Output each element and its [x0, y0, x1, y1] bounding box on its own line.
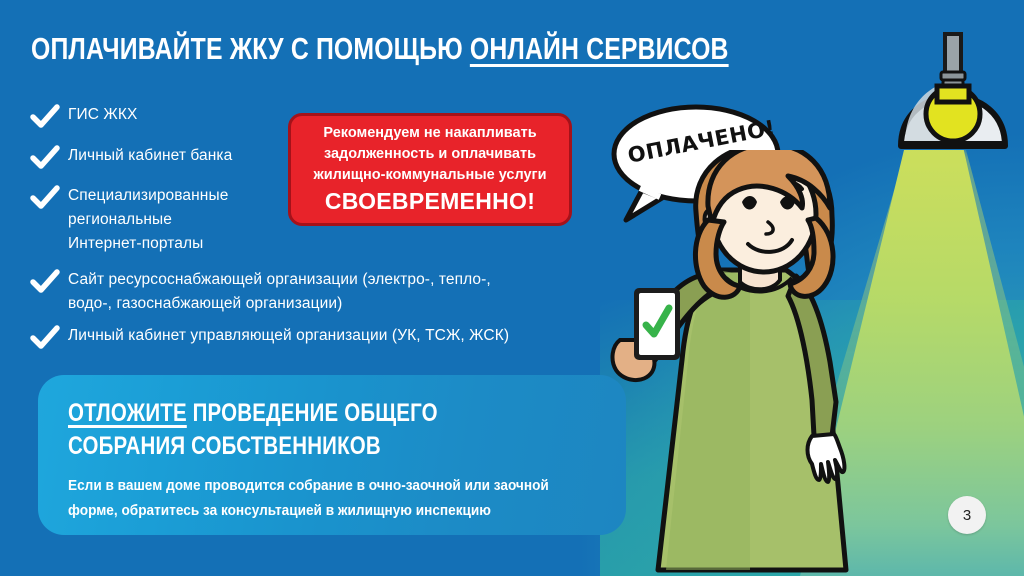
notice-panel-title-underlined: ОТЛОЖИТЕ: [68, 399, 187, 427]
list-item-line3: Интернет-порталы: [68, 235, 203, 252]
list-item: Личный кабинет управляющей организации (…: [30, 324, 590, 351]
check-icon: [30, 104, 60, 130]
notice-panel-title-rest: ПРОВЕДЕНИЕ ОБЩЕГО: [187, 399, 438, 427]
list-item: Сайт ресурсоснабжающей организации (элек…: [30, 268, 590, 316]
recommendation-emphasis: СВОЕВРЕМЕННО!: [325, 187, 535, 215]
woman-illustration: [600, 150, 920, 576]
notice-panel-title-line2: СОБРАНИЯ СОБСТВЕННИКОВ: [68, 430, 504, 463]
recommendation-box: Рекомендуем не накапливать задолженность…: [288, 113, 572, 226]
list-item-line2: водо-, газоснабжающей организации): [68, 295, 342, 312]
recommendation-line-3: жилищно-коммунальные услуги: [313, 165, 546, 186]
notice-panel-subtext-line1: Если в вашем доме проводится собрание в …: [68, 475, 568, 498]
slide-root: ОПЛАЧИВАЙТЕ ЖКУ С ПОМОЩЬЮ ОНЛАЙН СЕРВИСО…: [0, 0, 1024, 576]
list-item-label: Личный кабинет управляющей организации (…: [68, 324, 509, 348]
list-item-label: Личный кабинет банка: [68, 144, 232, 168]
check-icon: [30, 145, 60, 171]
page-title: ОПЛАЧИВАЙТЕ ЖКУ С ПОМОЩЬЮ ОНЛАЙН СЕРВИСО…: [31, 31, 729, 67]
list-item-line2: региональные: [68, 211, 172, 228]
list-item-label: ГИС ЖКХ: [68, 103, 137, 127]
list-item-label: Сайт ресурсоснабжающей организации (элек…: [68, 268, 491, 316]
list-item-line1: Сайт ресурсоснабжающей организации (элек…: [68, 271, 491, 288]
check-icon: [30, 185, 60, 211]
recommendation-line-2: задолженность и оплачивать: [324, 144, 536, 165]
list-item-line1: Специализированные: [68, 187, 228, 204]
check-icon: [30, 269, 60, 295]
notice-panel: ОТЛОЖИТЕ ПРОВЕДЕНИЕ ОБЩЕГО СОБРАНИЯ СОБС…: [38, 375, 626, 535]
check-icon: [30, 325, 60, 351]
lamp-icon: [893, 28, 1013, 158]
page-title-plain: ОПЛАЧИВАЙТЕ ЖКУ С ПОМОЩЬЮ: [31, 31, 470, 66]
list-item-label: Специализированные региональные Интернет…: [68, 184, 228, 256]
page-number-badge: 3: [948, 496, 986, 534]
notice-panel-subtext-line2: форме, обратитесь за консультацией в жил…: [68, 500, 568, 523]
page-title-underlined: ОНЛАЙН СЕРВИСОВ: [470, 31, 729, 66]
recommendation-line-1: Рекомендуем не накапливать: [323, 123, 536, 144]
notice-panel-title: ОТЛОЖИТЕ ПРОВЕДЕНИЕ ОБЩЕГО: [68, 397, 504, 430]
